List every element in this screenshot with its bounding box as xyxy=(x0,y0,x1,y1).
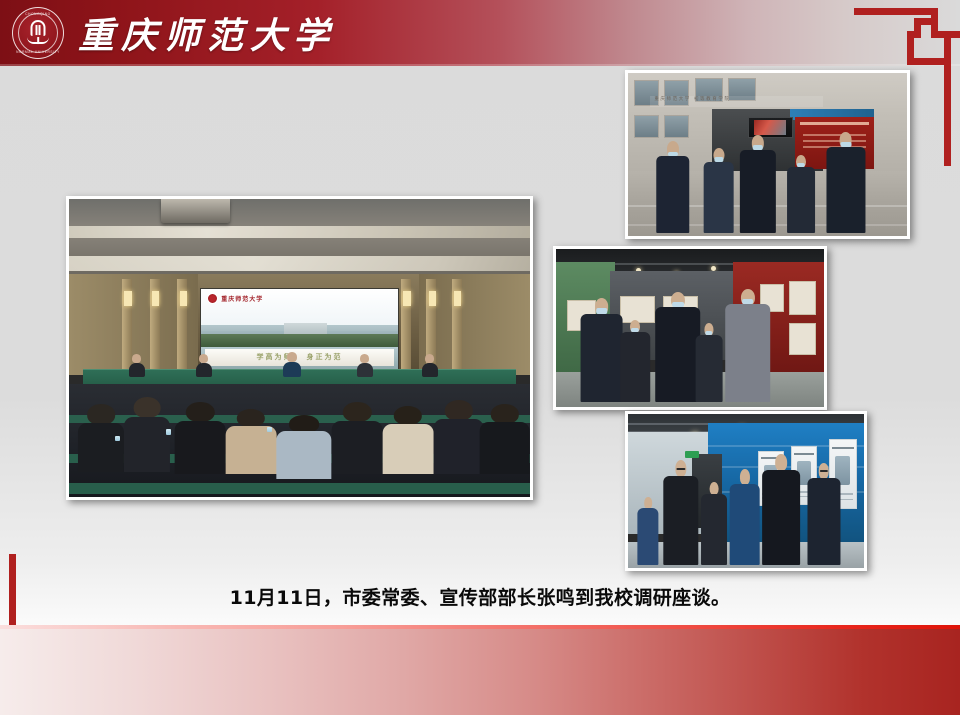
panelist-head xyxy=(360,354,369,363)
person-body xyxy=(382,424,433,474)
person-visitor xyxy=(807,463,840,565)
person-torso xyxy=(740,150,776,233)
university-wordmark: 重庆师范大学 xyxy=(78,7,336,59)
person-head xyxy=(134,397,161,418)
person-body xyxy=(175,421,226,475)
person-head xyxy=(644,497,652,509)
panelist xyxy=(422,354,438,377)
slide-caption: 11月11日，市委常委、宣传部部长张鸣到我校调研座谈。 xyxy=(0,583,960,610)
person-head xyxy=(343,402,371,422)
water-bottle xyxy=(115,436,120,442)
audience-member xyxy=(433,400,484,475)
wall-lamp xyxy=(403,291,410,306)
blue-corridor-scene xyxy=(628,414,864,568)
window xyxy=(634,115,659,138)
person-official xyxy=(655,292,701,403)
person-body xyxy=(276,431,331,479)
ceiling-light-strip xyxy=(69,256,530,271)
wall-lamp xyxy=(180,291,187,306)
person-head xyxy=(394,406,422,425)
person-head xyxy=(776,454,788,471)
eyeglasses-icon xyxy=(676,468,685,470)
person-official xyxy=(620,320,649,402)
person-torso xyxy=(580,314,623,403)
water-bottle xyxy=(166,429,171,435)
person-torso xyxy=(725,304,771,402)
person-body xyxy=(332,421,383,475)
panelist-body xyxy=(129,363,145,377)
ornament-bar xyxy=(944,31,951,166)
building-sign-text: 重庆师范大学 初等教育学院 xyxy=(650,96,823,105)
person-visitor xyxy=(701,482,727,565)
poster-title-line xyxy=(832,447,854,449)
ceiling-light-strip xyxy=(69,226,530,238)
person-body xyxy=(226,426,277,475)
bottom-decorative-band xyxy=(0,625,960,720)
person-official xyxy=(580,298,623,402)
person-official xyxy=(725,289,771,403)
slide-header: CHONGQING NORMAL UNIVERSITY 重庆师范大学 xyxy=(0,0,960,66)
ornament-bar xyxy=(914,18,921,38)
presentation-slide: CHONGQING NORMAL UNIVERSITY 重庆师范大学 xyxy=(0,0,960,720)
person-visitor xyxy=(729,469,760,564)
person-official xyxy=(740,135,776,233)
ornament-bar xyxy=(854,8,938,15)
person-head xyxy=(444,400,472,421)
blue-corridor-photo[interactable] xyxy=(625,411,867,571)
screen-motto-right: 身正为范 xyxy=(306,352,342,362)
screen-university-logo: 重庆师范大学 xyxy=(207,293,263,304)
audience-member xyxy=(479,404,530,474)
panelist-head xyxy=(287,352,297,362)
person-head xyxy=(289,415,319,432)
wall-lamp xyxy=(124,291,131,306)
person-head xyxy=(490,404,518,424)
person-official xyxy=(787,155,815,233)
logo-glyph xyxy=(26,20,50,44)
person-head xyxy=(237,409,265,427)
panelist-body xyxy=(283,362,301,377)
audience-member xyxy=(175,402,226,474)
panelist-body xyxy=(422,363,438,377)
panelist-body xyxy=(357,363,373,377)
person-head xyxy=(186,402,214,422)
person-torso xyxy=(663,476,698,565)
board-header-line xyxy=(800,122,869,125)
panelist xyxy=(129,354,145,377)
person-torso xyxy=(807,478,840,565)
screen-logo-mark-icon xyxy=(207,293,218,304)
person-torso xyxy=(701,494,727,565)
logo-arc-bottom-text: NORMAL UNIVERSITY xyxy=(12,50,64,54)
exhibition-hall-scene xyxy=(556,249,824,407)
audience-member xyxy=(276,415,331,478)
person-official xyxy=(656,141,689,232)
screen-treeline xyxy=(201,334,397,347)
person-body xyxy=(78,423,124,472)
wall-lamp xyxy=(152,291,159,306)
display-screen-image xyxy=(754,120,786,135)
building-sign: 重庆师范大学 初等教育学院 xyxy=(650,96,823,107)
building-entrance-photo[interactable]: 重庆师范大学 初等教育学院 xyxy=(625,70,910,239)
building-entrance-scene: 重庆师范大学 初等教育学院 xyxy=(628,73,907,236)
eyeglasses-icon xyxy=(820,470,828,472)
person-torso xyxy=(703,162,734,233)
logo-flame-shape xyxy=(31,20,46,36)
person-visitor xyxy=(663,460,698,565)
conference-hall-scene: 重庆师范大学 学高为师 身正为范 xyxy=(69,199,530,497)
logo-book-shape xyxy=(27,37,49,44)
wall-lamp xyxy=(454,291,461,306)
person-head xyxy=(710,482,719,495)
water-bottle xyxy=(267,427,272,433)
person-torso xyxy=(826,147,865,233)
window xyxy=(664,115,689,138)
person-torso xyxy=(620,332,649,402)
person-torso xyxy=(763,470,801,565)
exhibit-frame xyxy=(789,323,816,355)
person-torso xyxy=(787,167,815,233)
band-bottom-edge xyxy=(0,715,960,720)
panelist xyxy=(196,354,212,377)
panelist-head xyxy=(425,354,434,363)
person-torso xyxy=(729,484,760,565)
person-visitor xyxy=(637,497,658,565)
person-head xyxy=(87,404,115,424)
person-torso xyxy=(695,335,722,402)
person-torso xyxy=(656,156,689,233)
exhibition-hall-photo[interactable] xyxy=(553,246,827,410)
person-official xyxy=(826,132,865,233)
screen-logo-text: 重庆师范大学 xyxy=(221,294,263,303)
person-torso xyxy=(637,508,658,565)
exit-sign-icon xyxy=(685,451,699,458)
panelist-head xyxy=(199,354,208,363)
person-head xyxy=(740,469,750,484)
university-logo-icon: CHONGQING NORMAL UNIVERSITY xyxy=(12,7,64,59)
panelist xyxy=(357,354,373,377)
audience-area xyxy=(69,384,530,497)
band-top-accent-line xyxy=(0,625,960,629)
panelist-speaker xyxy=(283,352,301,377)
person-body xyxy=(124,417,170,472)
audience-member xyxy=(332,402,383,474)
person-official xyxy=(703,148,734,233)
audience-member xyxy=(382,406,433,474)
audience-member xyxy=(124,397,170,472)
conference-hall-photo[interactable]: 重庆师范大学 学高为师 身正为范 xyxy=(66,196,533,500)
panelist-head xyxy=(132,354,141,363)
exhibit-frame xyxy=(789,281,816,316)
audience-member xyxy=(226,409,277,475)
person-visitor xyxy=(763,454,801,565)
person-body xyxy=(479,422,530,474)
chair-row xyxy=(69,483,530,493)
wall-lamp xyxy=(429,291,436,306)
logo-arc-top-text: CHONGQING xyxy=(12,12,64,16)
person-torso xyxy=(655,307,701,402)
person-body xyxy=(433,419,484,474)
ceiling-projector xyxy=(161,199,230,223)
panelist-body xyxy=(196,363,212,377)
person-official xyxy=(695,323,722,402)
